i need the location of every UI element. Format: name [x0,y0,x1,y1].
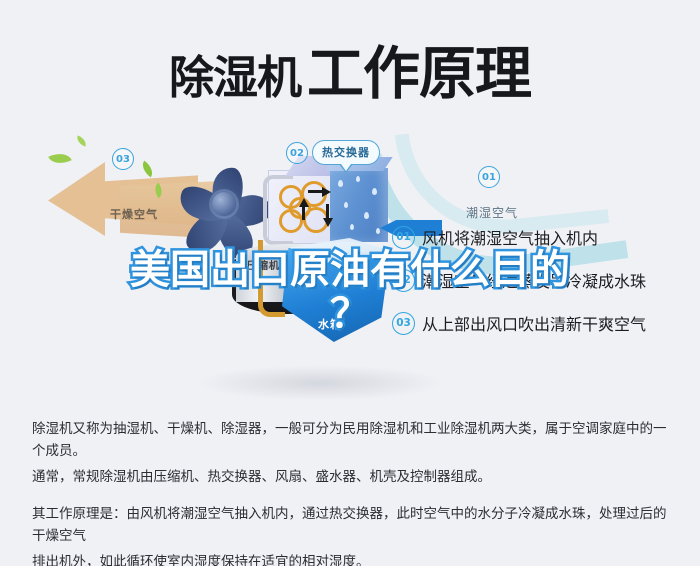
fan-hub [212,192,236,216]
body-paragraph-4: 排出机外，如此循环使室内湿度保持在适宜的相对湿度。 [32,551,672,566]
dry-air-label: 干燥空气 [110,206,158,222]
page-title-main: 工作原理 [307,41,531,107]
body-paragraph-2: 通常，常规除湿机由压缩机、热交换器、风扇、盛水器、机壳及控制器组成。 [32,466,672,488]
water-droplet [338,180,343,187]
leaf-icon [48,148,72,168]
step-item-02: 02 潮湿空气经过蒸发器冷凝成水珠 [392,269,692,291]
diagram-marker-02: 02 [286,142,308,164]
body-copy: 除湿机又称为抽湿机、干燥机、除湿器，一般可分为民用除湿机和工业除湿机两大类，属于… [32,418,672,566]
water-tank-label: 水箱 [318,316,342,332]
step-badge-02: 02 [392,269,415,292]
leaf-icon [138,161,156,178]
compressor-pipe [258,240,285,317]
step-item-03: 03 从上部出风口吹出清新干爽空气 [392,312,692,334]
step-badge-01: 01 [392,226,415,249]
flow-arrow-stem [326,204,329,218]
flow-arrow-stem [302,206,305,220]
marker-01-circle: 01 [478,166,500,188]
paragraph-spacer [32,492,672,503]
heat-exchanger-block [330,168,388,242]
flow-arrow-down-icon [323,218,333,227]
page-title-prefix: 除湿机 [169,51,301,104]
compressor-label: 压缩机 [247,257,280,272]
water-droplet [364,212,369,219]
water-droplet [376,228,380,234]
step-badge-03: 03 [392,312,415,335]
step-text-01: 风机将潮湿空气抽入机内 [422,225,598,249]
step-text-02: 潮湿空气经过蒸发器冷凝成水珠 [422,268,646,292]
diagram-marker-01: 01 [478,166,500,188]
humid-air-label: 潮湿空气 [466,204,518,221]
infographic-page: 除湿机工作原理 03 干燥空气 [0,0,700,566]
flow-arrow-stem [308,190,322,193]
ground-shadow [195,365,445,401]
water-droplet [372,188,377,195]
step-text-03: 从上部出风口吹出清新干爽空气 [422,311,646,335]
diagram-marker-03: 03 [112,148,134,170]
flow-arrow-up-icon [299,198,309,207]
step-item-01: 01 风机将潮湿空气抽入机内 [392,226,692,248]
leaf-icon [75,135,88,146]
marker-03-circle: 03 [112,148,134,170]
body-paragraph-1: 除湿机又称为抽湿机、干燥机、除湿器，一般可分为民用除湿机和工业除湿机两大类，属于… [32,418,672,462]
steps-list: 01 风机将潮湿空气抽入机内 02 潮湿空气经过蒸发器冷凝成水珠 03 从上部出… [392,226,692,355]
water-droplet [356,176,360,182]
body-paragraph-3: 其工作原理是：由风机将潮湿空气抽入机内，通过热交换器，此时空气中的水分子冷凝成水… [32,503,672,547]
marker-02-circle: 02 [286,142,308,164]
flow-arrow-right-icon [322,187,331,197]
page-title: 除湿机工作原理 [0,28,700,110]
water-droplet [350,224,354,230]
heat-exchanger-callout: 热交换器 [312,140,380,165]
water-droplet [344,202,348,208]
